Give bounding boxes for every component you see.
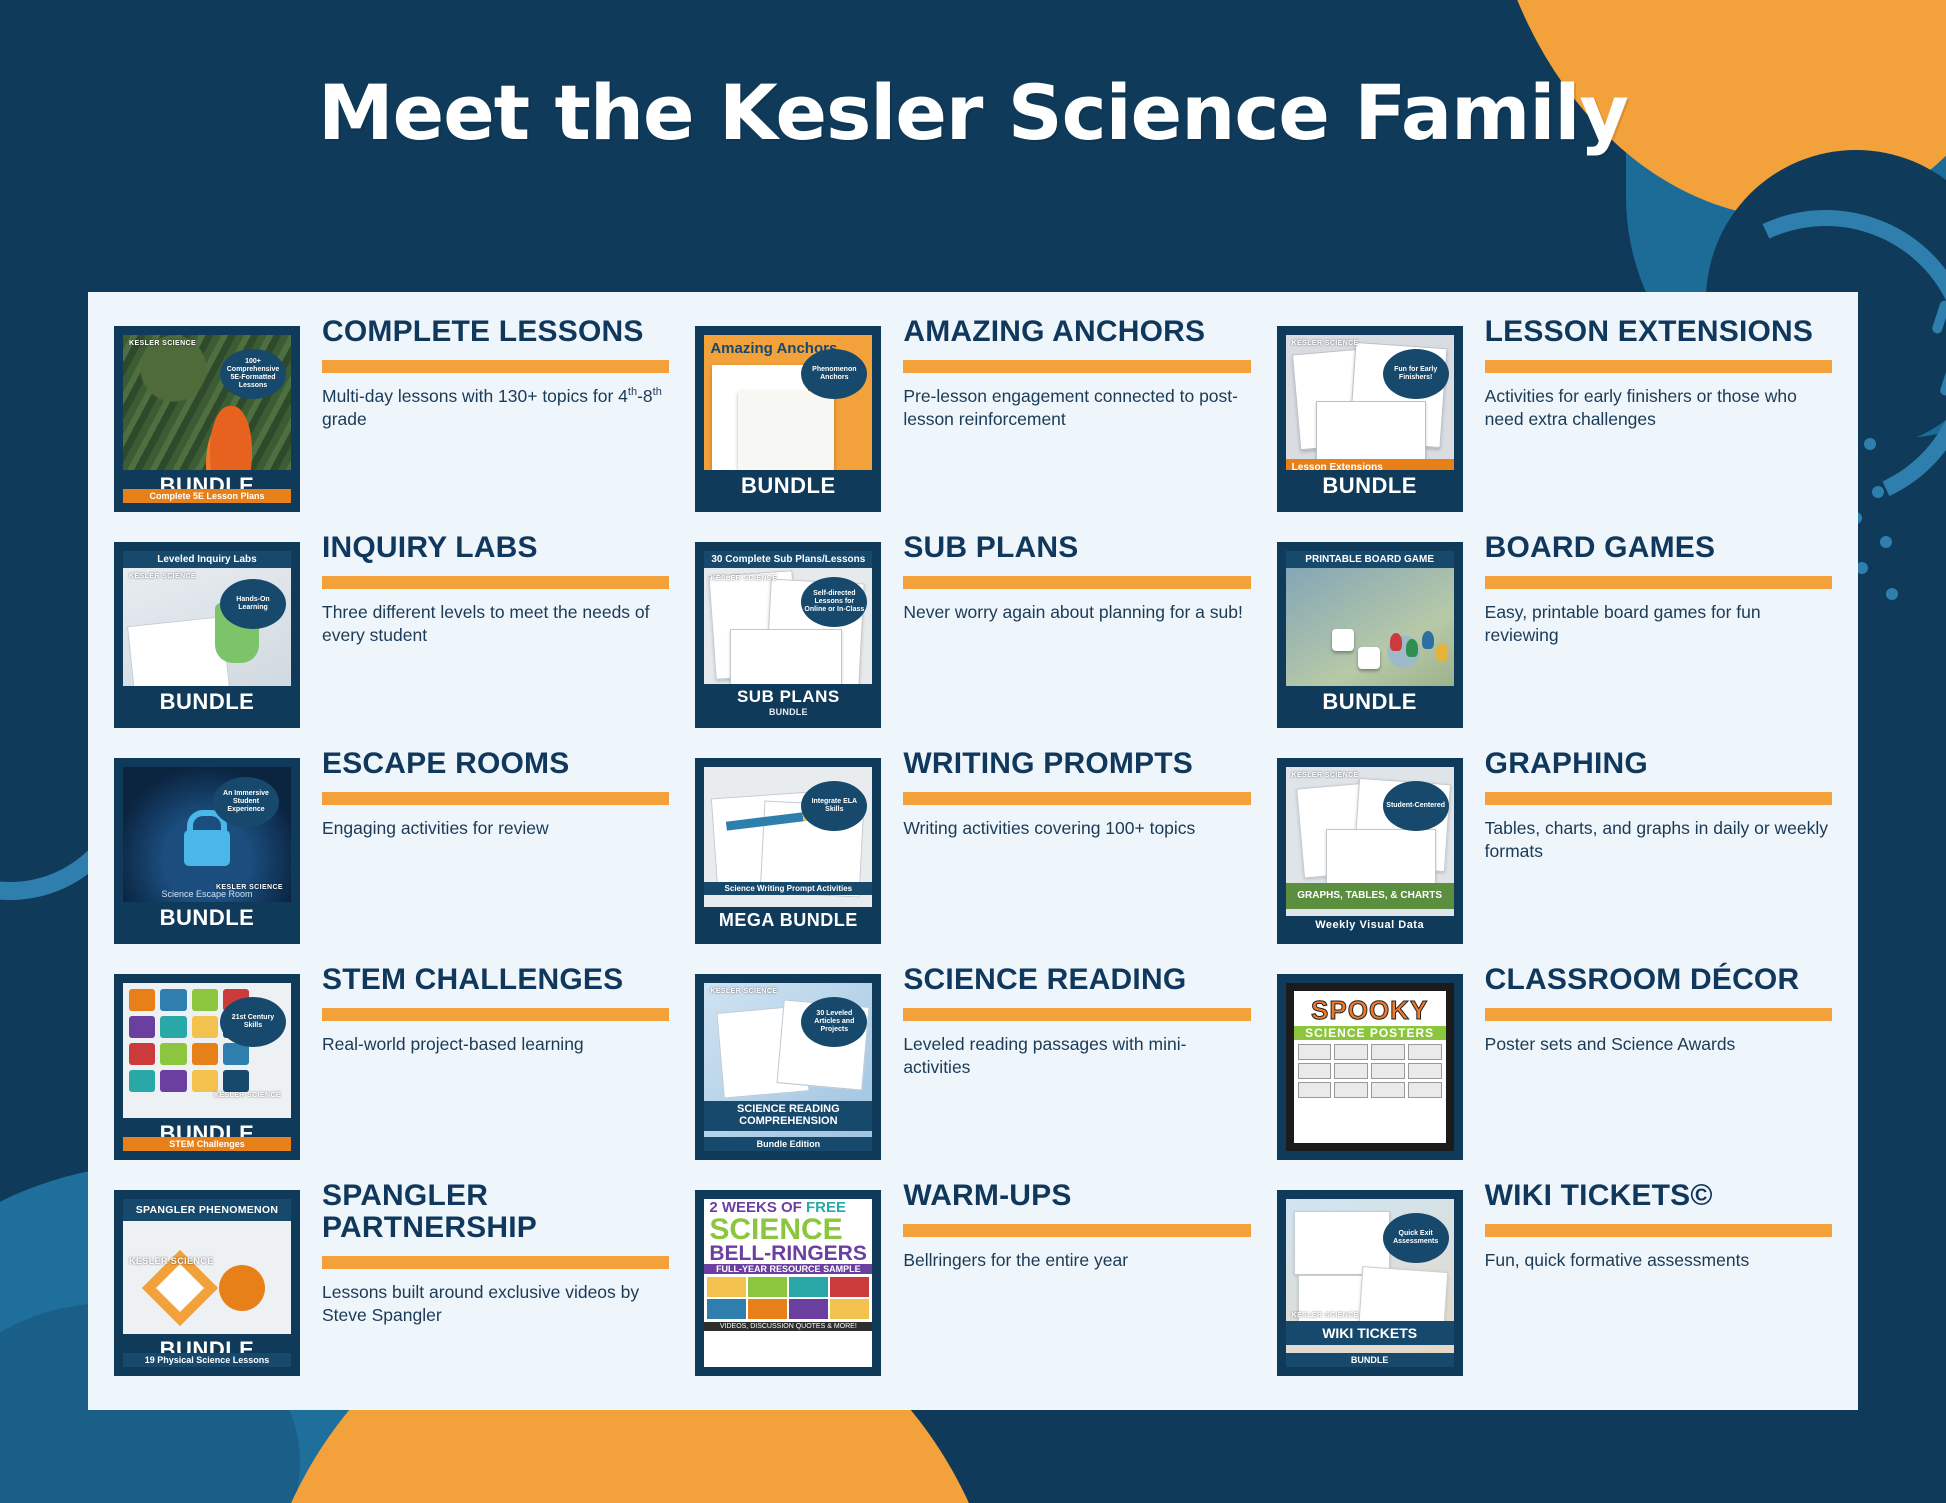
desc-sup-2: th: [653, 386, 662, 398]
banner-label: Weekly Visual Data: [1315, 919, 1424, 931]
kesler-science-logo: KESLER SCIENCE: [710, 575, 777, 582]
card-description: Leveled reading passages with mini-activ…: [903, 1033, 1250, 1080]
thumbnail-badge: Fun for Early Finishers!: [1383, 349, 1449, 399]
card-title: SUB PLANS: [903, 532, 1250, 564]
bell-line-5: VIDEOS, DISCUSSION QUOTES & MORE!: [704, 1322, 872, 1331]
banner-label: SUB PLANS: [737, 687, 840, 706]
kesler-science-logo: KESLER SCIENCE: [129, 1257, 214, 1266]
bell-line-3: BELL-RINGERS: [704, 1244, 872, 1264]
card-text-escape-rooms: ESCAPE ROOMS Engaging activities for rev…: [300, 748, 669, 840]
card-text-stem-challenges: STEM CHALLENGES Real-world project-based…: [300, 964, 669, 1056]
thumbnail-badge: 21st Century Skills: [220, 997, 286, 1047]
thumbnail-topstrip: 30 Complete Sub Plans/Lessons: [704, 551, 872, 568]
accent-rule: [322, 792, 669, 805]
thumbnail-header: SPANGLER PHENOMENON: [123, 1199, 291, 1221]
thumbnail-warm-ups[interactable]: 2 WEEKS OF FREE SCIENCE BELL-RINGERS FUL…: [695, 1190, 881, 1376]
card-description: Tables, charts, and graphs in daily or w…: [1485, 817, 1832, 864]
thumbnail-board-games[interactable]: PRINTABLE BOARD GAME BUNDLE: [1277, 542, 1463, 728]
card-text-science-reading: SCIENCE READING Leveled reading passages…: [881, 964, 1250, 1080]
kesler-science-logo: KESLER SCIENCE: [129, 340, 196, 347]
card-amazing-anchors[interactable]: Amazing Anchors Phenomenon Anchors BUNDL…: [695, 316, 1250, 528]
banner-label: BUNDLE: [1322, 473, 1417, 498]
card-escape-rooms[interactable]: An Immersive Student Experience KESLER S…: [114, 748, 669, 960]
banner-sublabel: BUNDLE: [706, 707, 870, 717]
card-description: Fun, quick formative assessments: [1485, 1249, 1832, 1272]
accent-rule: [1485, 792, 1832, 805]
accent-rule: [322, 360, 669, 373]
accent-rule: [903, 576, 1250, 589]
poster-sheet: SPOOKY SCIENCE POSTERS: [1294, 991, 1446, 1143]
card-science-reading[interactable]: SCIENCE READING COMPREHENSION KESLER SCI…: [695, 964, 1250, 1176]
kesler-science-logo: KESLER SCIENCE: [1292, 340, 1359, 347]
card-complete-lessons[interactable]: KESLER SCIENCE 100+ Comprehensive 5E-For…: [114, 316, 669, 528]
card-description: Writing activities covering 100+ topics: [903, 817, 1250, 840]
card-title: COMPLETE LESSONS: [322, 316, 669, 348]
card-writing-prompts[interactable]: Integrate ELA Skills Science Writing Pro…: [695, 748, 1250, 960]
thumbnail-badge: Student-Centered: [1383, 781, 1449, 831]
desc-part-3: grade: [322, 409, 367, 429]
card-text-sub-plans: SUB PLANS Never worry again about planni…: [881, 532, 1250, 624]
thumbnail-lesson-extensions[interactable]: Lesson Extensions KESLER SCIENCE Fun for…: [1277, 326, 1463, 512]
card-title: STEM CHALLENGES: [322, 964, 669, 996]
card-sub-plans[interactable]: 30 Complete Sub Plans/Lessons Self-direc…: [695, 532, 1250, 744]
bell-ringers-art: 2 WEEKS OF FREE SCIENCE BELL-RINGERS FUL…: [704, 1199, 872, 1367]
thumbnail-subbanner: STEM Challenges: [123, 1137, 291, 1151]
bell-line-4: FULL-YEAR RESOURCE SAMPLE: [704, 1264, 872, 1274]
accent-rule: [1485, 1224, 1832, 1237]
kesler-science-logo: KESLER SCIENCE: [214, 1092, 281, 1099]
card-stem-challenges[interactable]: 21st Century Skills KESLER SCIENCE BUNDL…: [114, 964, 669, 1176]
spooky-title: SPOOKY: [1294, 995, 1446, 1026]
card-text-wiki-tickets: WIKI TICKETS© Fun, quick formative asses…: [1463, 1180, 1832, 1272]
thumbnail-escape-rooms[interactable]: An Immersive Student Experience KESLER S…: [114, 758, 300, 944]
card-warm-ups[interactable]: 2 WEEKS OF FREE SCIENCE BELL-RINGERS FUL…: [695, 1180, 1250, 1392]
accent-rule: [1485, 576, 1832, 589]
card-inquiry-labs[interactable]: Leveled Inquiry Labs KESLER SCIENCE Hand…: [114, 532, 669, 744]
card-title: LESSON EXTENSIONS: [1485, 316, 1832, 348]
product-grid: KESLER SCIENCE 100+ Comprehensive 5E-For…: [114, 316, 1832, 1392]
spooky-subtitle: SCIENCE POSTERS: [1294, 1026, 1446, 1040]
paper-sheet: [1294, 1211, 1390, 1275]
chart-sheet: [1326, 829, 1436, 891]
accent-rule: [903, 792, 1250, 805]
thumbnail-graphing[interactable]: GRAPHS, TABLES, & CHARTS KESLER SCIENCE …: [1277, 758, 1463, 944]
card-text-graphing: GRAPHING Tables, charts, and graphs in d…: [1463, 748, 1832, 864]
card-description: Engaging activities for review: [322, 817, 669, 840]
card-board-games[interactable]: PRINTABLE BOARD GAME BUNDLE BOARD GAMES …: [1277, 532, 1832, 744]
kesler-science-logo: KESLER SCIENCE: [1292, 772, 1359, 779]
thumbnail-banner: BUNDLE: [123, 902, 291, 935]
card-spangler-partnership[interactable]: SPANGLER PHENOMENON KESLER SCIENCE BUNDL…: [114, 1180, 669, 1392]
thumbnail-badge: Integrate ELA Skills: [801, 781, 867, 831]
thumbnail-subbanner: 19 Physical Science Lessons: [123, 1353, 291, 1367]
card-title: WARM-UPS: [903, 1180, 1250, 1212]
card-title: BOARD GAMES: [1485, 532, 1832, 564]
accent-rule: [1485, 1008, 1832, 1021]
thumbnail-strip: Science Escape Room: [123, 887, 291, 901]
card-description: Never worry again about planning for a s…: [903, 601, 1250, 624]
card-description: Three different levels to meet the needs…: [322, 601, 669, 648]
accent-rule: [322, 1008, 669, 1021]
accent-rule: [322, 1256, 669, 1269]
banner-label: BUNDLE: [1322, 689, 1417, 714]
card-text-complete-lessons: COMPLETE LESSONS Multi-day lessons with …: [300, 316, 669, 432]
thumbnail-inquiry-labs[interactable]: Leveled Inquiry Labs KESLER SCIENCE Hand…: [114, 542, 300, 728]
banner-label: BUNDLE: [741, 473, 836, 498]
card-text-writing-prompts: WRITING PROMPTS Writing activities cover…: [881, 748, 1250, 840]
page-title: Meet the Kesler Science Family: [0, 68, 1946, 157]
card-description: Lessons built around exclusive videos by…: [322, 1281, 669, 1328]
thumbnail-badge: Phenomenon Anchors: [801, 349, 867, 399]
thumbnail-banner: BUNDLE: [123, 686, 291, 719]
thumbnail-badge: Quick Exit Assessments: [1383, 1213, 1449, 1263]
card-text-amazing-anchors: AMAZING ANCHORS Pre-lesson engagement co…: [881, 316, 1250, 432]
card-description: Bellringers for the entire year: [903, 1249, 1250, 1272]
card-title: CLASSROOM DÉCOR: [1485, 964, 1832, 996]
card-description: Poster sets and Science Awards: [1485, 1033, 1832, 1056]
banner-label: MEGA BUNDLE: [719, 910, 858, 930]
thumbnail-strip: GRAPHS, TABLES, & CHARTS: [1286, 883, 1454, 909]
thumbnail-complete-lessons[interactable]: KESLER SCIENCE 100+ Comprehensive 5E-For…: [114, 326, 300, 512]
thumbnail-banner-inner: WIKI TICKETS: [1286, 1321, 1454, 1345]
kesler-science-logo: KESLER SCIENCE: [1292, 1312, 1359, 1319]
kesler-science-logo: KESLER SCIENCE: [710, 988, 777, 995]
thumbnail-badge: 100+ Comprehensive 5E-Formatted Lessons: [220, 349, 286, 399]
card-title: WRITING PROMPTS: [903, 748, 1250, 780]
desc-part-1: Multi-day lessons with 130+ topics for 4: [322, 386, 628, 406]
thumbnail-badge: An Immersive Student Experience: [213, 777, 279, 827]
accent-rule: [903, 1008, 1250, 1021]
card-lesson-extensions[interactable]: Lesson Extensions KESLER SCIENCE Fun for…: [1277, 316, 1832, 528]
spooky-posters-art: SPOOKY SCIENCE POSTERS: [1286, 983, 1454, 1151]
thumbnail-banner: SUB PLANS BUNDLE: [704, 684, 872, 719]
thumbnail-topstrip: PRINTABLE BOARD GAME: [1286, 551, 1454, 568]
accent-rule: [1485, 360, 1832, 373]
thumbnail-wiki-tickets[interactable]: WIKI TICKETS Quick Exit Assessments KESL…: [1277, 1190, 1463, 1376]
thumbnail-badge: Hands-On Learning: [220, 579, 286, 629]
banner-label: BUNDLE: [160, 689, 255, 714]
thumbnail-stem-challenges[interactable]: 21st Century Skills KESLER SCIENCE BUNDL…: [114, 974, 300, 1160]
card-text-board-games: BOARD GAMES Easy, printable board games …: [1463, 532, 1832, 648]
thumbnail-amazing-anchors[interactable]: Amazing Anchors Phenomenon Anchors BUNDL…: [695, 326, 881, 512]
thumbnail-spangler[interactable]: SPANGLER PHENOMENON KESLER SCIENCE BUNDL…: [114, 1190, 300, 1376]
thumbnail-strip: Science Writing Prompt Activities: [704, 882, 872, 895]
thumbnail-banner: MEGA BUNDLE: [704, 907, 872, 935]
bell-thumbnail-grid: [704, 1274, 872, 1322]
thumbnail-banner: Weekly Visual Data: [1286, 916, 1454, 935]
thumbnail-banner: BUNDLE: [1286, 470, 1454, 503]
thumbnail-classroom-decor[interactable]: SPOOKY SCIENCE POSTERS: [1277, 974, 1463, 1160]
thumbnail-topstrip: Leveled Inquiry Labs: [123, 551, 291, 568]
paper-sheet: [730, 629, 842, 691]
thumbnail-science-reading[interactable]: SCIENCE READING COMPREHENSION KESLER SCI…: [695, 974, 881, 1160]
card-classroom-decor[interactable]: SPOOKY SCIENCE POSTERS CLASSROOM DÉCOR P…: [1277, 964, 1832, 1176]
accent-rule: [903, 1224, 1250, 1237]
card-description: Activities for early finishers or those …: [1485, 385, 1832, 432]
thumbnail-subbanner: BUNDLE: [1286, 1353, 1454, 1367]
card-title: SCIENCE READING: [903, 964, 1250, 996]
card-description: Easy, printable board games for fun revi…: [1485, 601, 1832, 648]
thumbnail-sub-plans[interactable]: 30 Complete Sub Plans/Lessons Self-direc…: [695, 542, 881, 728]
card-title: INQUIRY LABS: [322, 532, 669, 564]
card-graphing[interactable]: GRAPHS, TABLES, & CHARTS KESLER SCIENCE …: [1277, 748, 1832, 960]
card-text-inquiry-labs: INQUIRY LABS Three different levels to m…: [300, 532, 669, 648]
card-title: GRAPHING: [1485, 748, 1832, 780]
thumbnail-subbanner: Bundle Edition: [704, 1137, 872, 1151]
kesler-science-logo: KESLER SCIENCE: [129, 573, 196, 580]
thumbnail-writing-prompts[interactable]: Integrate ELA Skills Science Writing Pro…: [695, 758, 881, 944]
thumbnail-banner: BUNDLE: [704, 470, 872, 503]
card-description: Pre-lesson engagement connected to post-…: [903, 385, 1250, 432]
card-description: Multi-day lessons with 130+ topics for 4…: [322, 385, 669, 432]
card-title: ESCAPE ROOMS: [322, 748, 669, 780]
card-text-classroom-decor: CLASSROOM DÉCOR Poster sets and Science …: [1463, 964, 1832, 1056]
thumbnail-badge: Self-directed Lessons for Online or In-C…: [801, 577, 867, 627]
accent-rule: [903, 360, 1250, 373]
card-wiki-tickets[interactable]: WIKI TICKETS Quick Exit Assessments KESL…: [1277, 1180, 1832, 1392]
card-text-warm-ups: WARM-UPS Bellringers for the entire year: [881, 1180, 1250, 1272]
card-title: WIKI TICKETS©: [1485, 1180, 1832, 1212]
bell-line-2: SCIENCE: [704, 1216, 872, 1244]
card-title: AMAZING ANCHORS: [903, 316, 1250, 348]
desc-part-2: -8: [637, 386, 653, 406]
desc-sup-1: th: [628, 386, 637, 398]
card-description: Real-world project-based learning: [322, 1033, 669, 1056]
card-text-lesson-extensions: LESSON EXTENSIONS Activities for early f…: [1463, 316, 1832, 432]
thumbnail-banner: BUNDLE: [1286, 686, 1454, 719]
thumbnail-banner-inner: SCIENCE READING COMPREHENSION: [704, 1101, 872, 1131]
poster-canvas: Meet the Kesler Science Family KESLER SC…: [0, 0, 1946, 1503]
content-panel: KESLER SCIENCE 100+ Comprehensive 5E-For…: [88, 292, 1858, 1410]
card-text-spangler: SPANGLER PARTNERSHIP Lessons built aroun…: [300, 1180, 669, 1327]
lock-icon: [184, 830, 230, 866]
poster-thumbnail-grid: [1294, 1040, 1446, 1102]
partner-circle: [219, 1265, 265, 1311]
banner-label: BUNDLE: [160, 905, 255, 930]
accent-rule: [322, 576, 669, 589]
card-title: SPANGLER PARTNERSHIP: [322, 1180, 669, 1244]
thumbnail-badge: 30 Leveled Articles and Projects: [801, 997, 867, 1047]
thumbnail-subbanner: Complete 5E Lesson Plans: [123, 489, 291, 503]
